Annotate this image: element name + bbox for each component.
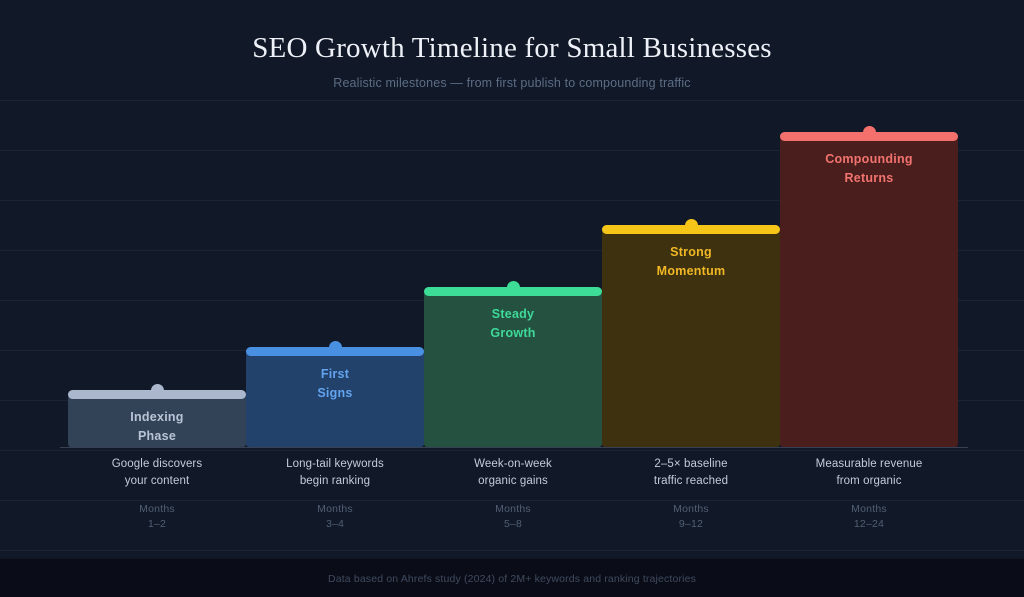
footer: Data based on Ahrefs study (2024) of 2M+…: [0, 558, 1024, 597]
axis-desc-line2: your content: [68, 473, 246, 490]
bar-phase-line2: Signs: [246, 384, 424, 403]
bar-group[interactable]: FirstSigns: [246, 347, 424, 447]
bar-phase-line1: Compounding: [780, 150, 958, 169]
bar-phase-label: IndexingPhase: [68, 408, 246, 445]
footer-note: Data based on Ahrefs study (2024) of 2M+…: [328, 573, 696, 585]
axis-label-group: Long-tail keywordsbegin rankingMonths3–4: [246, 456, 424, 532]
chart-canvas: SEO Growth Timeline for Small Businesses…: [0, 0, 1024, 597]
axis-baseline: [60, 447, 968, 448]
axis-label-group: Google discoversyour contentMonths1–2: [68, 456, 246, 532]
bar-top-cap: [424, 287, 602, 296]
bar-phase-line1: Indexing: [68, 408, 246, 427]
bar-top-cap: [780, 132, 958, 141]
axis-months-label: Months: [780, 502, 958, 517]
axis-months-range: 12–24: [780, 517, 958, 532]
axis-months-label: Months: [602, 502, 780, 517]
bar-top-cap: [68, 390, 246, 399]
axis-label-group: Week-on-weekorganic gainsMonths5–8: [424, 456, 602, 532]
chart-header: SEO Growth Timeline for Small Businesses…: [0, 0, 1024, 90]
bar-phase-label: FirstSigns: [246, 365, 424, 402]
axis-label-group: Measurable revenuefrom organicMonths12–2…: [780, 456, 958, 532]
axis-months-label: Months: [68, 502, 246, 517]
bar-phase-label: CompoundingReturns: [780, 150, 958, 187]
axis-desc-line2: from organic: [780, 473, 958, 490]
bar-phase-line2: Phase: [68, 427, 246, 446]
axis-months-label: Months: [424, 502, 602, 517]
bar-phase-line1: First: [246, 365, 424, 384]
page-subtitle: Realistic milestones — from first publis…: [0, 65, 1024, 90]
bar-top-cap: [602, 225, 780, 234]
bar-phase-line1: Steady: [424, 305, 602, 324]
bar-group[interactable]: StrongMomentum: [602, 225, 780, 447]
axis-desc-line1: Week-on-week: [424, 456, 602, 473]
bar-group[interactable]: SteadyGrowth: [424, 287, 602, 447]
axis-desc-line1: 2–5× baseline: [602, 456, 780, 473]
axis-desc-line1: Long-tail keywords: [246, 456, 424, 473]
axis-desc-line1: Google discovers: [68, 456, 246, 473]
axis-months-range: 1–2: [68, 517, 246, 532]
axis-desc-line2: organic gains: [424, 473, 602, 490]
axis-months-range: 3–4: [246, 517, 424, 532]
axis-months-label: Months: [246, 502, 424, 517]
bar-group[interactable]: CompoundingReturns: [780, 132, 958, 447]
bar-top-cap: [246, 347, 424, 356]
bar-phase-label: SteadyGrowth: [424, 305, 602, 342]
axis-months-range: 9–12: [602, 517, 780, 532]
bar-phase-line2: Growth: [424, 324, 602, 343]
bar-phase-line1: Strong: [602, 243, 780, 262]
bar-phase-line2: Returns: [780, 169, 958, 188]
page-title: SEO Growth Timeline for Small Businesses: [0, 0, 1024, 65]
bar-phase-line2: Momentum: [602, 262, 780, 281]
axis-desc-line1: Measurable revenue: [780, 456, 958, 473]
axis-months-range: 5–8: [424, 517, 602, 532]
bar-group[interactable]: IndexingPhase: [68, 390, 246, 447]
axis-desc-line2: traffic reached: [602, 473, 780, 490]
bar-phase-label: StrongMomentum: [602, 243, 780, 280]
axis-desc-line2: begin ranking: [246, 473, 424, 490]
axis-label-group: 2–5× baselinetraffic reachedMonths9–12: [602, 456, 780, 532]
